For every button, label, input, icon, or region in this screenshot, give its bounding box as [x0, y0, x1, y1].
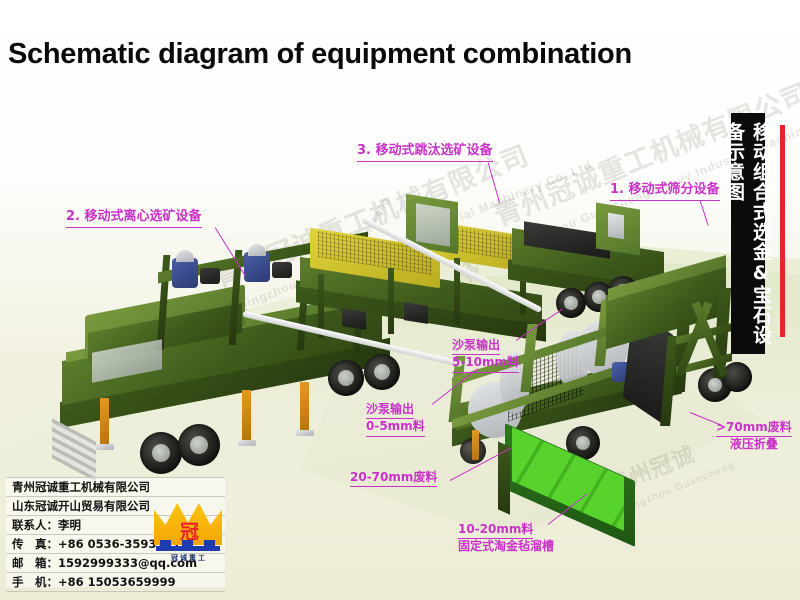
callout-pump-0-5: 沙泵输出 0-5mm料 [366, 402, 425, 437]
company-logo: 冠 冠诚重工 [152, 503, 224, 565]
wheel-hub [576, 436, 590, 450]
logo-base-bar [156, 546, 220, 551]
tire [722, 362, 752, 392]
wheel-hub [374, 364, 390, 380]
callout-item1-text: 1. 移动式筛分设备 [610, 182, 720, 201]
bowl-cap [248, 244, 266, 256]
callout-waste-20-70: 20-70mm废料 [350, 470, 437, 487]
callout-pump-5-10: 沙泵输出 5-10mm料 [452, 338, 519, 373]
hydraulic-leg [100, 398, 109, 446]
exhaust-stack [608, 213, 624, 240]
callout-pump-0-5-line1: 沙泵输出 [366, 402, 414, 419]
jig-drive [342, 308, 366, 330]
schematic-diagram-slide: 青州冠诚重工机械有限公司 Qingzhou Guancheng Heavy In… [0, 0, 800, 600]
logo-caption: 冠诚重工 [158, 553, 220, 563]
callout-item2: 2. 移动式离心选矿设备 [66, 209, 202, 228]
callout-item1: 1. 移动式筛分设备 [610, 182, 720, 201]
wheel-hub [564, 296, 578, 310]
wheel-hub [708, 378, 722, 392]
callout-waste-70: >70mm废料 液压折叠 [716, 420, 792, 453]
motor [200, 268, 220, 284]
callout-waste-70-line1: >70mm废料 [716, 420, 792, 437]
hydraulic-leg [300, 382, 309, 432]
callout-pump-0-5-line2: 0-5mm料 [366, 419, 425, 436]
callout-item3: 3. 移动式跳汰选矿设备 [357, 143, 493, 162]
callout-pump-5-10-line1: 沙泵输出 [452, 338, 500, 355]
callout-sluice-line2: 固定式淘金毡溜槽 [458, 539, 554, 554]
centrifugal-bowl [172, 258, 198, 288]
leg-foot [238, 440, 256, 446]
wheel-hub [152, 444, 170, 462]
callout-sluice-line1: 10-20mm料 [458, 522, 533, 539]
wheel-hub [338, 370, 354, 386]
feed-box-face [416, 203, 450, 246]
contact-company-1: 青州冠诚重工机械有限公司 [6, 477, 225, 497]
banner-accent-bar [780, 125, 785, 337]
jig-drive [404, 302, 428, 324]
leg-foot [96, 444, 114, 450]
callout-sluice: 10-20mm料 固定式淘金毡溜槽 [458, 522, 554, 555]
jig-leg [388, 268, 394, 334]
contact-mobile: 手 机：+86 15053659999 [6, 573, 225, 592]
centrifugal-bowl [244, 252, 270, 282]
hydraulic-leg [242, 390, 251, 442]
vertical-banner-text: 移动组合式选金&宝石设备示意图 [721, 122, 775, 352]
page-title: Schematic diagram of equipment combinati… [8, 38, 632, 71]
motor [272, 262, 292, 278]
callout-item3-text: 3. 移动式跳汰选矿设备 [357, 143, 493, 162]
vertical-banner: 移动组合式选金&宝石设备示意图 [731, 113, 765, 354]
leg-foot [296, 430, 314, 436]
callout-waste-70-line2: 液压折叠 [716, 437, 792, 452]
bowl-cap [176, 250, 194, 262]
hydraulic-leg [472, 430, 479, 460]
callout-pump-5-10-line2: 5-10mm料 [452, 355, 519, 372]
callout-waste-20-70-text: 20-70mm废料 [350, 470, 437, 487]
callout-item2-text: 2. 移动式离心选矿设备 [66, 209, 202, 228]
wheel-hub [190, 436, 208, 454]
